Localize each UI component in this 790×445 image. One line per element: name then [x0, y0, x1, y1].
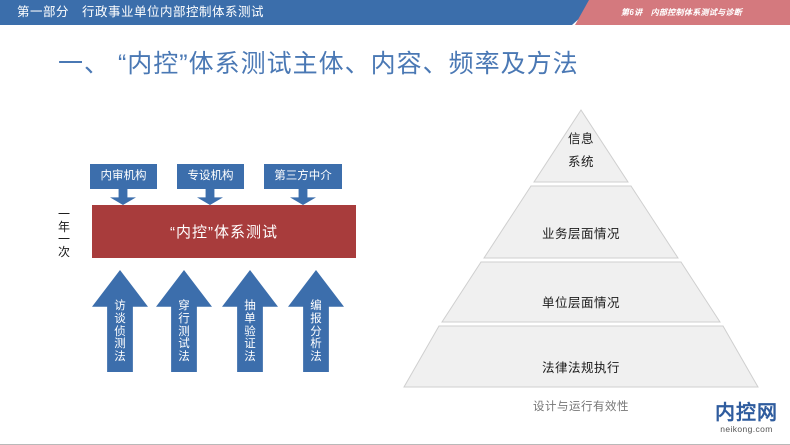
frequency-label: 一年一次 — [56, 208, 72, 258]
method-arrow-label: 编报分析法 — [310, 300, 323, 364]
pyramid-tier-0 — [534, 110, 628, 182]
method-arrow-sampling: 抽单验证法 — [222, 270, 278, 372]
pyramid-caption: 设计与运行有效性 — [400, 398, 762, 414]
logo-url: neikong.com — [715, 424, 778, 435]
pyramid-tier-1 — [484, 186, 678, 258]
method-arrow-label: 穿行测试法 — [178, 300, 191, 364]
source-box-dedicated-org: 专设机构 — [177, 164, 244, 189]
down-arrow-icon — [110, 189, 136, 205]
scope-pyramid: 信息 系统 业务层面情况 单位层面情况 法律法规执行 — [400, 105, 762, 395]
pyramid-tier-2 — [442, 262, 720, 322]
site-logo: 内控网 neikong.com — [715, 402, 778, 435]
testing-subject-diagram: 内审机构 专设机构 第三方中介 一年一次 “内控”体系测试 访谈侦测法 穿行测试… — [0, 0, 400, 445]
header-lecture-title: 第6讲 内部控制体系测试与诊断 — [621, 0, 742, 25]
method-arrow-label: 访谈侦测法 — [114, 300, 127, 364]
logo-name: 内控网 — [715, 402, 778, 424]
pyramid-shape — [400, 105, 762, 395]
down-arrow-icon — [197, 189, 223, 205]
method-arrow-label: 抽单验证法 — [244, 300, 257, 364]
pyramid-tier-3 — [404, 326, 758, 387]
method-arrow-reporting: 编报分析法 — [288, 270, 344, 372]
method-arrow-walkthrough: 穿行测试法 — [156, 270, 212, 372]
source-box-internal-audit: 内审机构 — [90, 164, 157, 189]
down-arrow-icon — [290, 189, 316, 205]
source-box-third-party: 第三方中介 — [264, 164, 342, 189]
center-box-system-test: “内控”体系测试 — [92, 205, 356, 258]
method-arrow-interview: 访谈侦测法 — [92, 270, 148, 372]
